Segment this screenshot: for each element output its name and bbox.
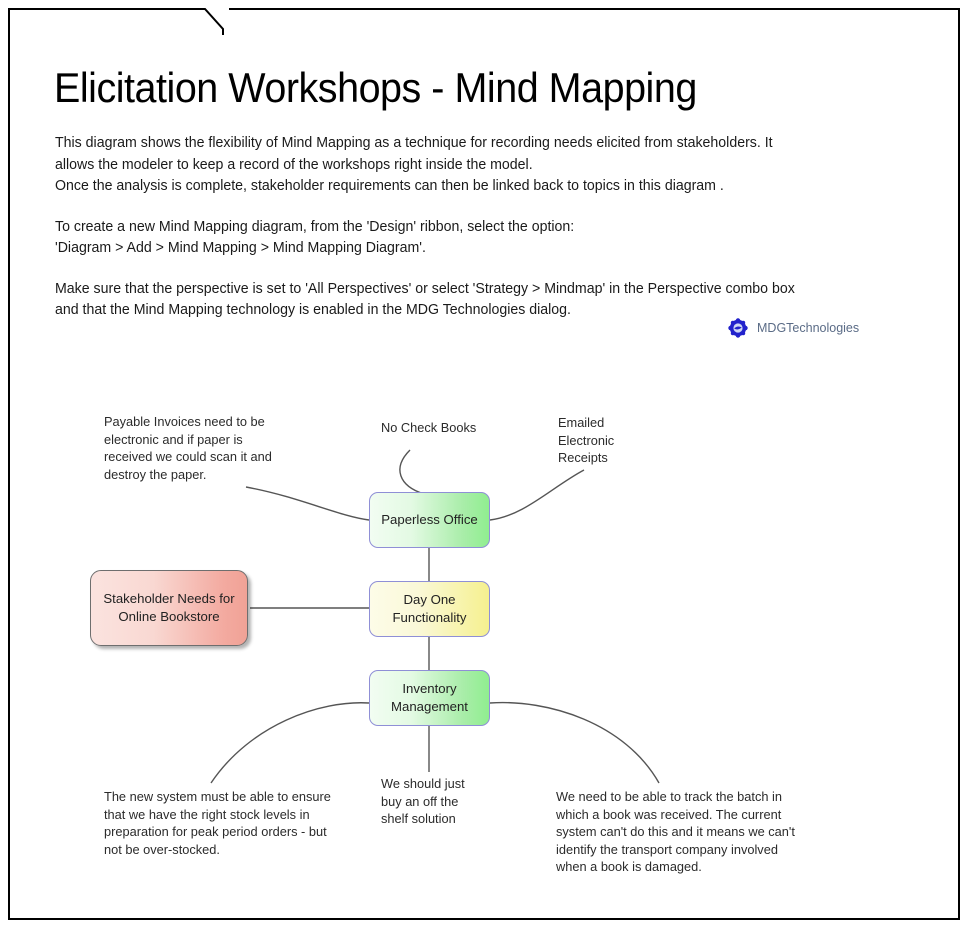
description-line-3: Once the analysis is complete, stakehold… — [55, 176, 918, 198]
mdg-technologies-label: MDGTechnologies — [757, 321, 859, 335]
diagram-frame-tab[interactable]: mmd Kickoff with Stakeholders — [8, 8, 229, 34]
paragraph-spacer — [55, 198, 918, 217]
description-block: This diagram shows the flexibility of Mi… — [55, 133, 918, 322]
mdg-gear-icon — [728, 318, 748, 338]
tab-outline-shape — [8, 8, 224, 36]
page-title: Elicitation Workshops - Mind Mapping — [54, 64, 806, 112]
description-line-5: 'Diagram > Add > Mind Mapping > Mind Map… — [55, 238, 918, 260]
description-line-2: allows the modeler to keep a record of t… — [55, 155, 918, 177]
description-line-1: This diagram shows the flexibility of Mi… — [55, 133, 918, 155]
mdg-technologies-artifact[interactable]: MDGTechnologies — [728, 318, 859, 338]
paragraph-spacer — [55, 260, 918, 279]
description-line-4: To create a new Mind Mapping diagram, fr… — [55, 217, 918, 239]
description-line-6: Make sure that the perspective is set to… — [55, 279, 918, 301]
